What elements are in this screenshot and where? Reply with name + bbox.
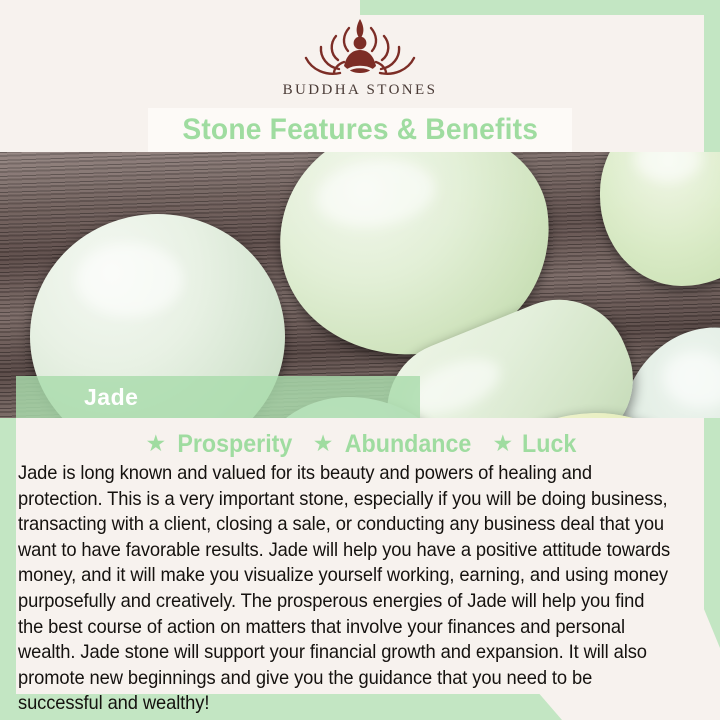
stone-name-bar: Jade xyxy=(16,376,420,418)
keyword-luck: Luck xyxy=(522,430,576,459)
decorative-band-top-right xyxy=(360,0,720,15)
stone-name-label: Jade xyxy=(84,384,138,411)
infographic-page: BUDDHA STONES Stone Features & Benefits … xyxy=(0,0,720,720)
star-icon: ★ xyxy=(313,430,334,457)
star-icon: ★ xyxy=(493,430,514,457)
lotus-buddha-icon xyxy=(296,14,424,80)
keyword-list: ★Prosperity★Abundance★Luck xyxy=(0,430,720,459)
keyword-abundance: Abundance xyxy=(345,430,472,459)
description-text: Jade is long known and valued for its be… xyxy=(18,461,673,717)
title-banner: Stone Features & Benefits xyxy=(148,108,572,152)
keyword-prosperity: Prosperity xyxy=(177,430,292,459)
brand-name: BUDDHA STONES xyxy=(0,82,720,99)
star-icon: ★ xyxy=(145,430,166,457)
brand-logo: BUDDHA STONES xyxy=(0,14,720,99)
page-title: Stone Features & Benefits xyxy=(182,113,538,147)
